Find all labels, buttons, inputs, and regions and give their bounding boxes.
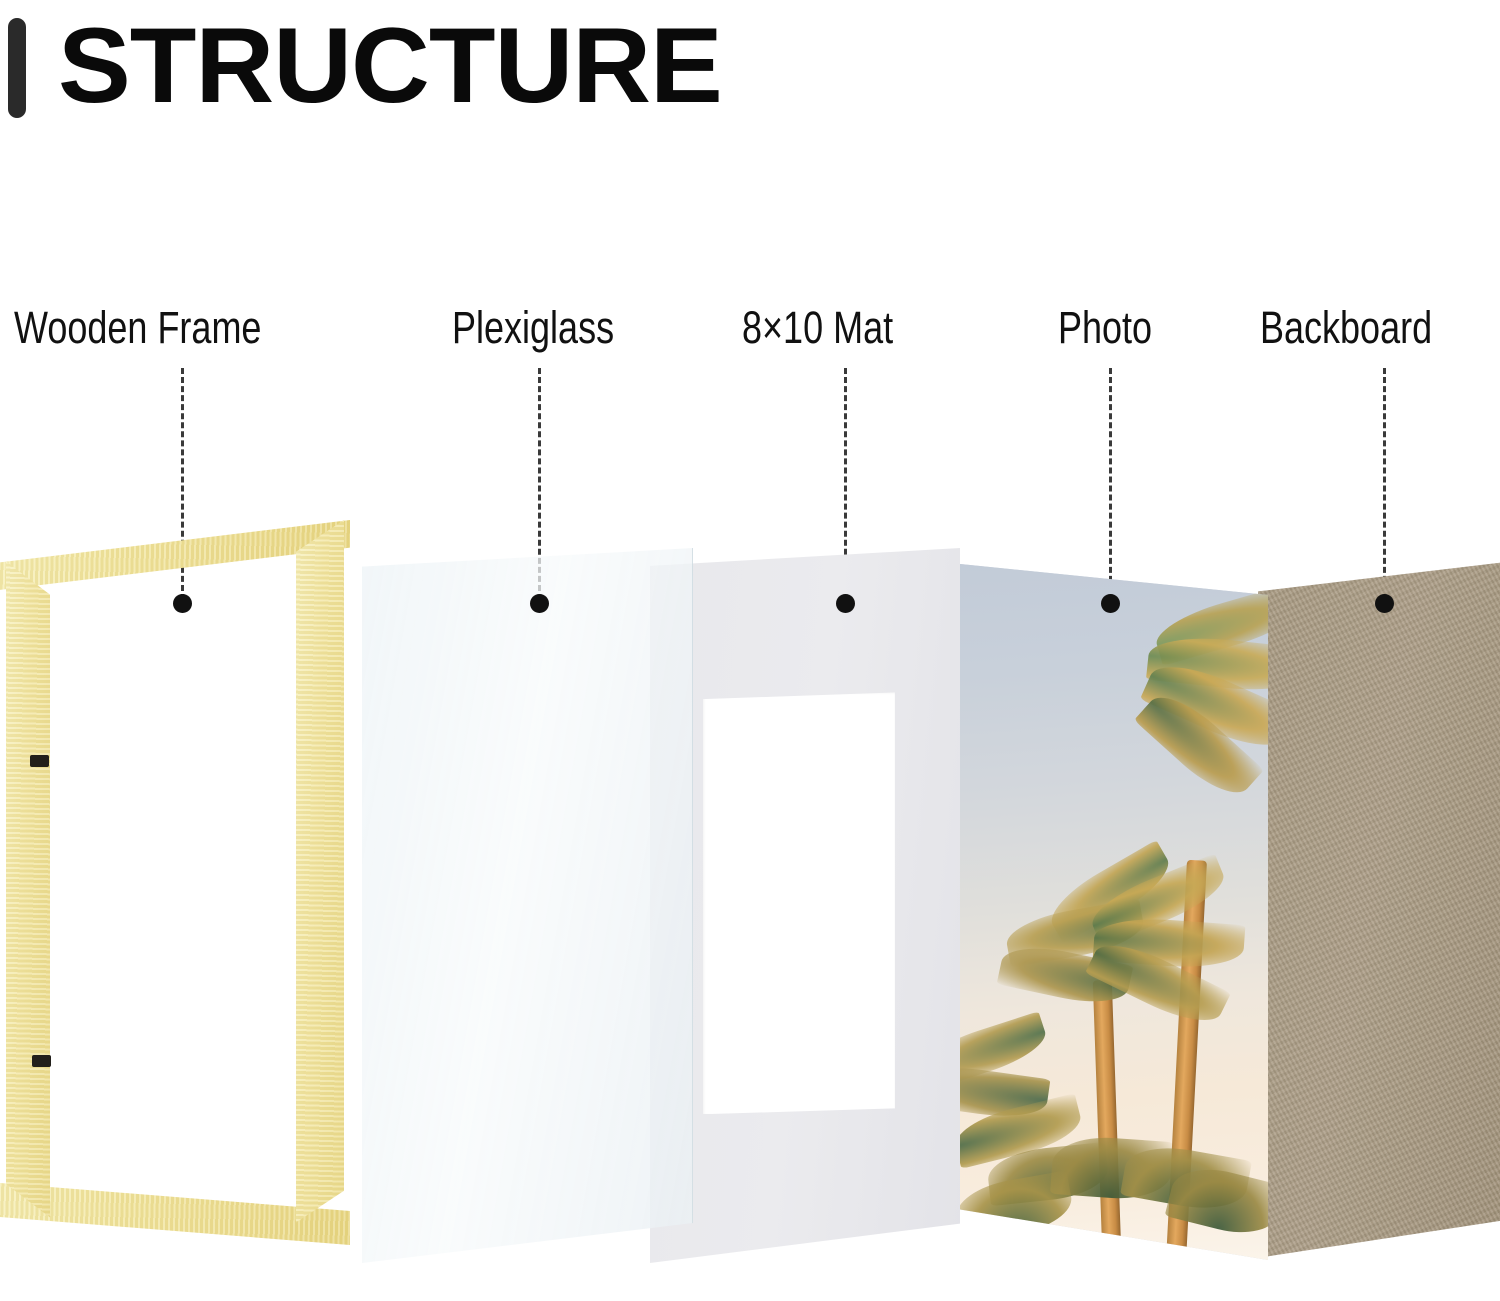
layer-photo — [948, 560, 1268, 1260]
callout-dot-mat — [836, 594, 855, 613]
callout-dot-photo — [1101, 594, 1120, 613]
frame-hanging-tab — [32, 1055, 51, 1067]
callout-dot-plexiglass — [530, 594, 549, 613]
page-title: STRUCTURE — [58, 5, 722, 125]
frame-rail-left — [6, 558, 50, 1224]
callout-dot-backboard — [1375, 594, 1394, 613]
label-backboard: Backboard — [1260, 303, 1432, 353]
label-plexiglass: Plexiglass — [452, 303, 614, 353]
layer-wooden-frame — [0, 520, 350, 1265]
frame-rail-right — [296, 520, 344, 1226]
mat-window-cutout — [703, 692, 895, 1114]
page-header: STRUCTURE — [0, 0, 1500, 160]
callout-dot-wooden-frame — [173, 594, 192, 613]
label-photo: Photo — [1058, 303, 1152, 353]
label-wooden-frame: Wooden Frame — [14, 303, 261, 353]
exploded-view-stage — [0, 520, 1500, 1301]
frame-hanging-tab — [30, 755, 49, 767]
layer-mat — [650, 548, 960, 1263]
title-accent-bar — [8, 18, 26, 118]
layer-backboard — [1258, 562, 1500, 1262]
label-mat: 8×10 Mat — [742, 303, 893, 353]
layer-plexiglass — [362, 548, 693, 1263]
